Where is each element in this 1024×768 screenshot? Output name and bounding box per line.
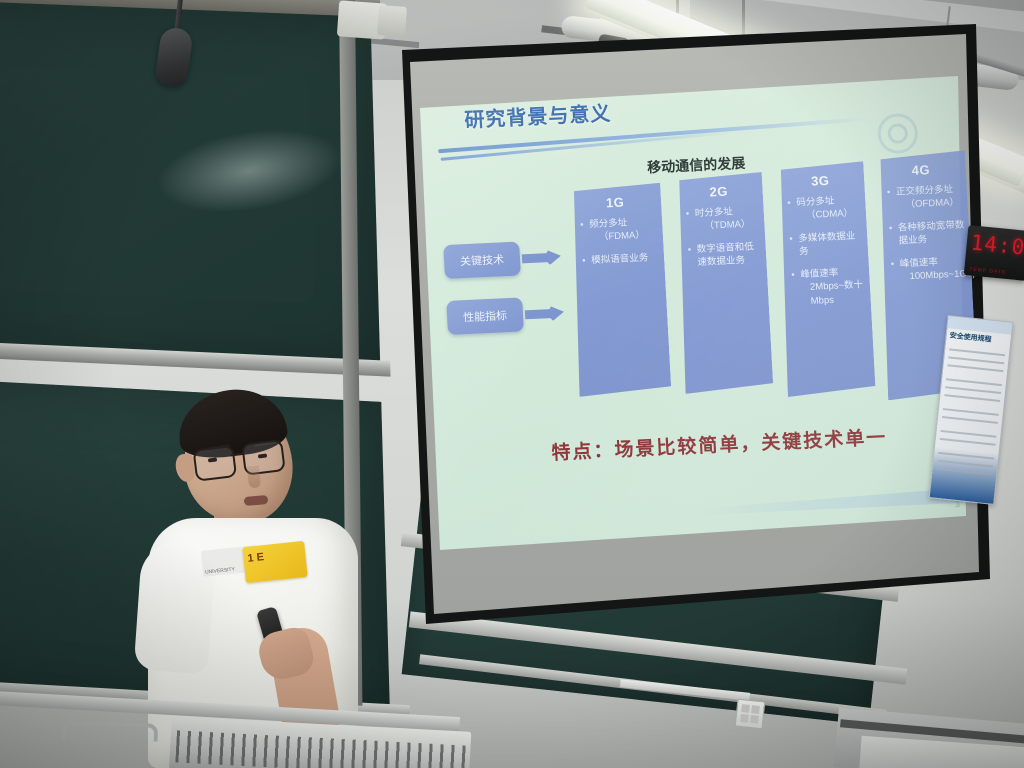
bullet-main: 各种移动宽带数据业务 — [898, 219, 965, 247]
bullet-sub: 100Mbps~1Gbps — [900, 268, 968, 285]
shirt-graphic-badge: 1 E — [242, 541, 307, 583]
clock-subdisplay: TEMP DATE — [969, 266, 1007, 276]
light-switch-plate[interactable] — [735, 699, 766, 730]
bullet-item: 峰值速率 100Mbps~1Gbps — [900, 254, 968, 284]
generation-column-2g: 2G 时分多址 （TDMA） 数字语音和低速数据业务 — [674, 172, 774, 394]
label-box-key-technology-text: 关键技术 — [460, 251, 505, 269]
digital-clock: 14:09 TEMP DATE — [964, 225, 1024, 281]
podium-handle[interactable] — [62, 720, 159, 741]
bullet-main: 模拟语音业务 — [591, 252, 649, 266]
label-box-key-technology: 关键技术 — [443, 242, 521, 280]
bullet-sub: （CDMA） — [797, 207, 863, 224]
bullet-main: 多媒体数据业务 — [798, 231, 856, 258]
clock-time-display: 14:09 — [970, 231, 1024, 261]
bullet-item: 码分多址 （CDMA） — [796, 193, 862, 223]
bullet-main: 码分多址 — [796, 196, 835, 209]
bullet-item: 时分多址 （TDMA） — [694, 204, 760, 234]
bullet-main: 时分多址 — [695, 206, 734, 219]
arrow-icon-performance-metric — [525, 305, 566, 321]
shirt-graphic-text: 1 E — [247, 551, 265, 565]
bullet-sub: （TDMA） — [695, 218, 761, 235]
label-box-performance-metric: 性能指标 — [446, 297, 524, 335]
bullet-main: 频分多址 — [589, 217, 628, 230]
bullet-sub: （FDMA） — [590, 228, 660, 245]
generation-bullets-2g: 时分多址 （TDMA） 数字语音和低速数据业务 — [684, 204, 764, 279]
slide-content: 研究背景与意义 移动通信的发展 关键技术 性能指标 1G — [420, 50, 991, 549]
bullet-item: 模拟语音业务 — [591, 251, 661, 268]
bullet-item: 频分多址 （FDMA） — [589, 215, 659, 245]
bullet-main: 峰值速率 — [900, 257, 939, 270]
label-box-performance-metric-text: 性能指标 — [463, 307, 508, 325]
bullet-item: 多媒体数据业务 — [798, 229, 864, 259]
generation-column-3g: 3G 码分多址 （CDMA） 多媒体数据业务 峰值速率 2Mbps~数十Mbps — [775, 161, 875, 397]
bullet-item: 数字语音和低速数据业务 — [696, 240, 762, 270]
slide-footer-conclusion: 特点：场景比较简单，关键技术单一 — [484, 419, 955, 468]
bullet-item: 各种移动宽带数据业务 — [898, 218, 966, 248]
bullet-main: 正交频分多址 — [896, 184, 954, 198]
bullet-item: 正交频分多址 （OFDMA） — [896, 183, 964, 213]
generation-bullets-3g: 码分多址 （CDMA） 多媒体数据业务 峰值速率 2Mbps~数十Mbps — [785, 193, 867, 318]
generation-bullets-1g: 频分多址 （FDMA） 模拟语音业务 — [578, 215, 661, 277]
slide-title: 研究背景与意义 — [464, 97, 612, 133]
bullet-main: 数字语音和低速数据业务 — [696, 241, 754, 268]
bullet-sub: 2Mbps~数十Mbps — [801, 279, 867, 309]
classroom-scene: 研究背景与意义 移动通信的发展 关键技术 性能指标 1G — [0, 0, 1024, 768]
bullet-sub: （OFDMA） — [896, 196, 964, 213]
bullet-main: 峰值速率 — [800, 267, 839, 280]
projection-screen[interactable]: 研究背景与意义 移动通信的发展 关键技术 性能指标 1G — [396, 24, 990, 624]
arrow-icon-key-technology — [522, 250, 563, 266]
university-logo-watermark-icon — [877, 113, 919, 155]
generation-bullets-4g: 正交频分多址 （OFDMA） 各种移动宽带数据业务 峰值速率 100Mbps~1… — [885, 183, 969, 294]
chalkboard-glare — [148, 116, 351, 225]
generation-column-1g: 1G 频分多址 （FDMA） 模拟语音业务 — [568, 183, 671, 397]
bullet-item: 峰值速率 2Mbps~数十Mbps — [800, 265, 867, 308]
poster-header: 安全使用规程 — [949, 330, 992, 344]
presenter-nose — [247, 465, 261, 488]
